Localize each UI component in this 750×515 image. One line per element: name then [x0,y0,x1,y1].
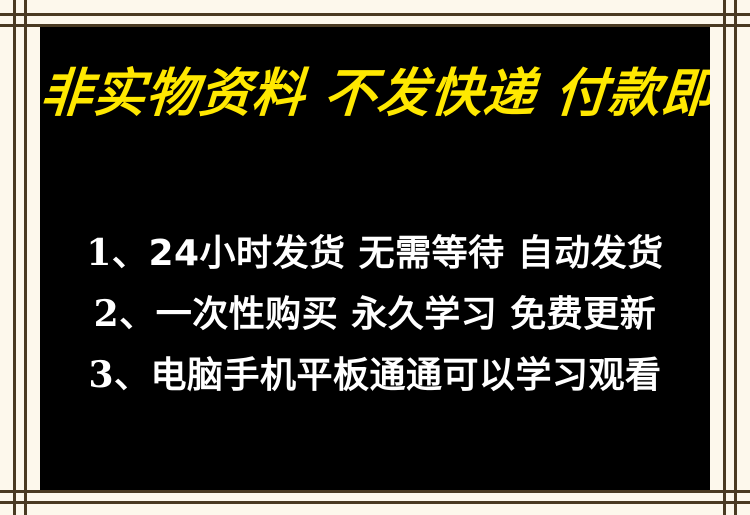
frame-line-top-outer [0,13,750,16]
frame-line-left-outer [13,0,16,515]
frame-line-right-outer [734,0,737,515]
benefit-list: 1、24小时发货 无需等待 自动发货 2、一次性购买 永久学习 免费更新 3、电… [40,223,710,406]
benefit-text-2: 一次性购买 永久学习 免费更新 [156,294,657,335]
benefit-text-1: 24小时发货 无需等待 自动发货 [148,233,663,274]
benefit-index-3: 3、 [88,354,150,396]
benefit-item-2: 2、一次性购买 永久学习 免费更新 [40,284,710,345]
frame-line-bottom-inner [0,490,750,493]
banner-stage: 非实物资料 不发快递 付款即看 1、24小时发货 无需等待 自动发货 2、一次性… [40,27,710,490]
benefit-index-2: 2、 [94,293,156,335]
frame-line-right-inner [723,0,726,515]
promo-banner: 非实物资料 不发快递 付款即看 1、24小时发货 无需等待 自动发货 2、一次性… [0,0,750,515]
benefit-item-1: 1、24小时发货 无需等待 自动发货 [40,223,710,284]
frame-line-bottom-outer [0,501,750,504]
benefit-text-3: 电脑手机平板通通可以学习观看 [151,355,662,396]
frame-line-left-inner [24,0,27,515]
headline-text: 非实物资料 不发快递 付款即看 [40,67,710,122]
benefit-item-3: 3、电脑手机平板通通可以学习观看 [40,345,710,406]
benefit-index-1: 1、 [86,232,148,274]
